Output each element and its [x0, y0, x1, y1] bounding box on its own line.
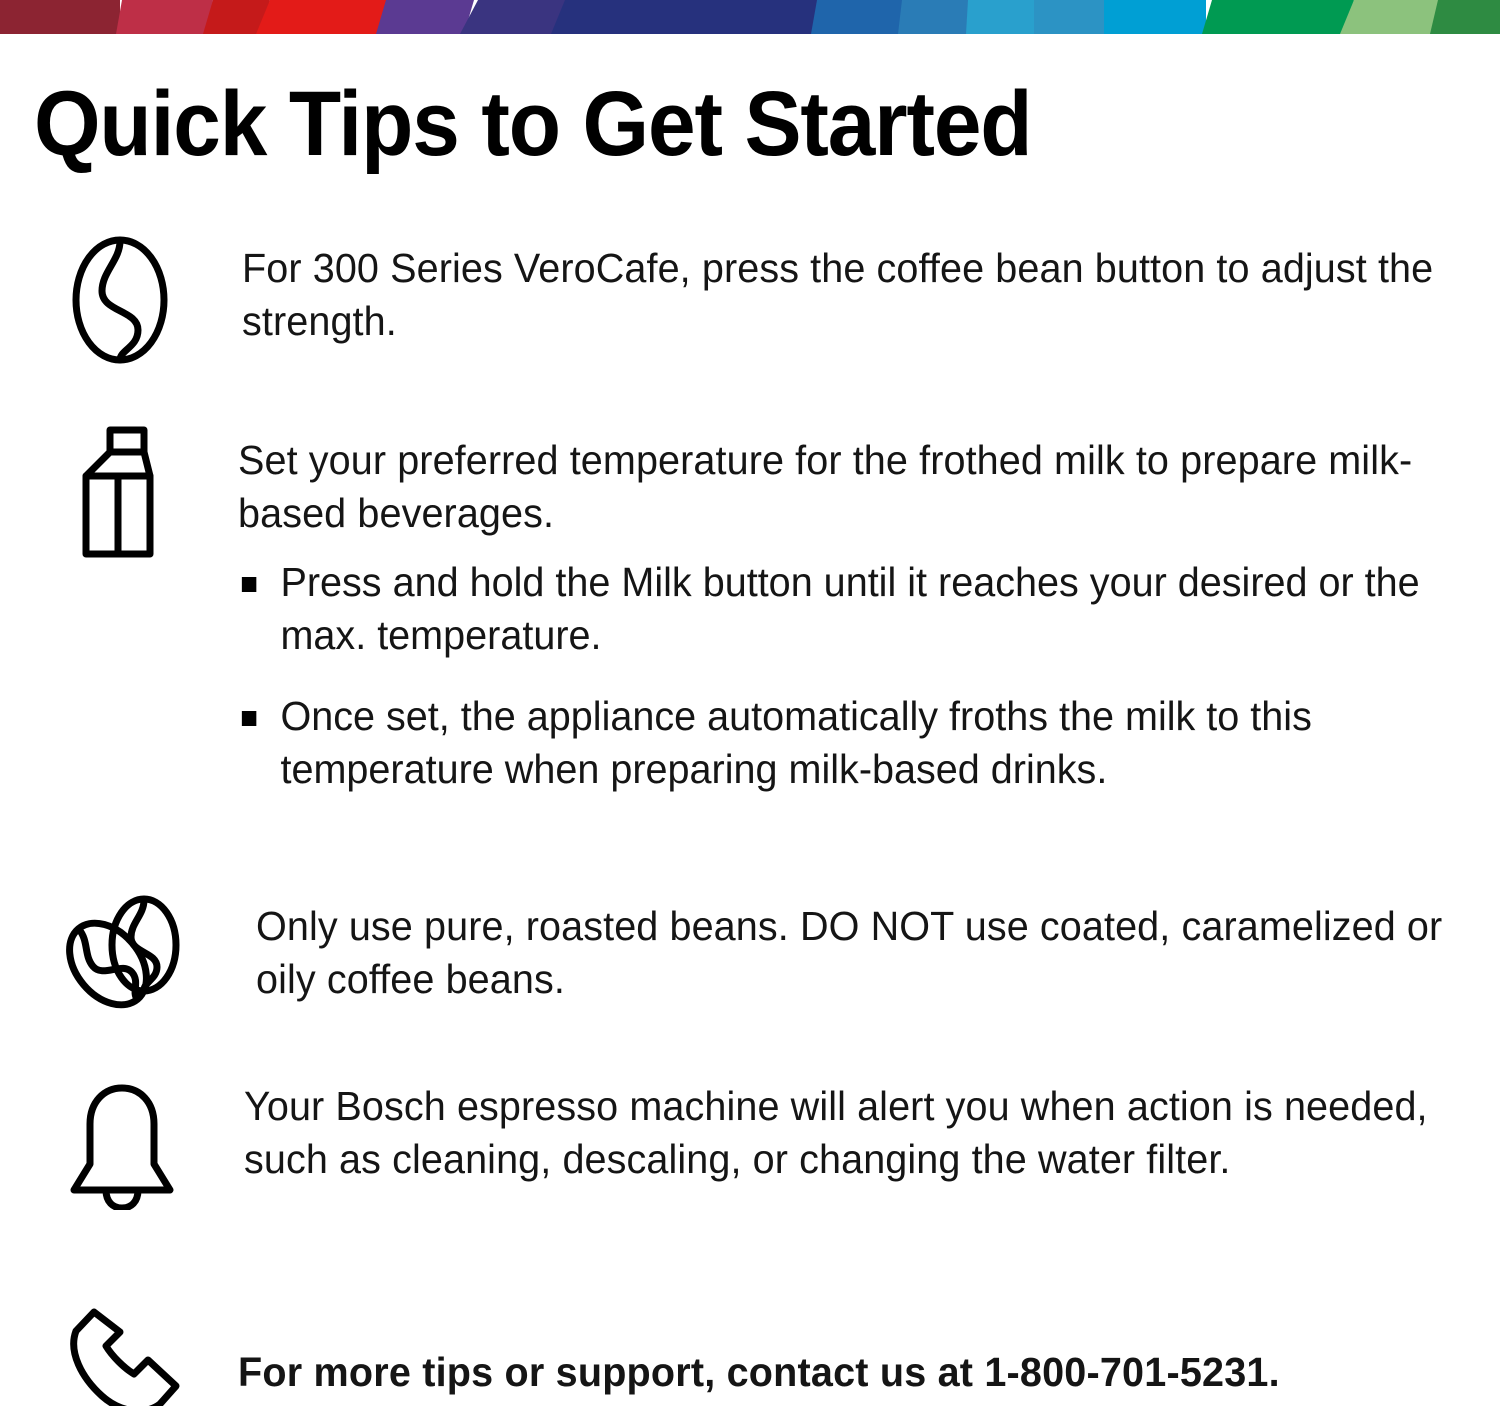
bell-icon: [62, 1078, 182, 1215]
colorbar-segment: [1202, 0, 1354, 34]
colorbar-segment: [256, 0, 394, 34]
bosch-supergraphic-bar: [0, 0, 1500, 34]
square-bullet-icon: [242, 577, 256, 592]
page-title: Quick Tips to Get Started: [34, 76, 1031, 172]
tip-row-support: For more tips or support, contact us at …: [68, 1306, 1498, 1406]
quick-tips-page: Quick Tips to Get Started For 300 Series…: [0, 0, 1500, 1406]
phone-handset-icon: [68, 1306, 180, 1406]
tip-row-coffee-bean: For 300 Series VeroCafe, press the coffe…: [68, 236, 1488, 369]
tip-row-pure-beans: Only use pure, roasted beans. DO NOT use…: [56, 892, 1486, 1017]
tip-text-milk-temperature: Set your preferred temperature for the f…: [238, 434, 1444, 540]
tip-row-milk-temperature: Set your preferred temperature for the f…: [68, 424, 1488, 796]
colorbar-segment: [1034, 0, 1108, 34]
tip-body-coffee-bean: For 300 Series VeroCafe, press the coffe…: [242, 236, 1488, 348]
milk-carton-icon: [68, 424, 180, 565]
colorbar-segment: [898, 0, 974, 34]
colorbar-segment: [1104, 0, 1206, 34]
colorbar-segment: [551, 0, 829, 34]
tip-body-support: For more tips or support, contact us at …: [238, 1306, 1498, 1399]
milk-sub-item-2: Once set, the appliance automatically fr…: [238, 690, 1444, 796]
colorbar-segment: [966, 0, 1040, 34]
coffee-beans-pair-icon: [56, 892, 196, 1017]
tip-text-coffee-bean: For 300 Series VeroCafe, press the coffe…: [242, 242, 1444, 348]
colorbar-segment: [0, 0, 120, 34]
tip-body-milk-temperature: Set your preferred temperature for the f…: [238, 424, 1488, 796]
coffee-bean-icon: [68, 236, 172, 369]
square-bullet-icon: [242, 711, 256, 726]
colorbar-segment: [1430, 0, 1500, 34]
milk-sub-list: Press and hold the Milk button until it …: [238, 556, 1488, 796]
milk-sub-item-1-label: Press and hold the Milk button until it …: [280, 559, 1419, 658]
tip-body-pure-beans: Only use pure, roasted beans. DO NOT use…: [256, 892, 1486, 1006]
tip-row-alerts: Your Bosch espresso machine will alert y…: [62, 1078, 1492, 1215]
colorbar-segment: [811, 0, 908, 34]
milk-sub-item-1: Press and hold the Milk button until it …: [238, 556, 1444, 662]
tip-text-support: For more tips or support, contact us at …: [238, 1346, 1454, 1399]
tip-text-alerts: Your Bosch espresso machine will alert y…: [244, 1080, 1448, 1186]
colorbar-segment: [116, 0, 213, 34]
milk-sub-item-2-label: Once set, the appliance automatically fr…: [280, 693, 1311, 792]
tip-body-alerts: Your Bosch espresso machine will alert y…: [244, 1078, 1492, 1186]
tip-text-pure-beans: Only use pure, roasted beans. DO NOT use…: [256, 900, 1443, 1006]
colorbar-segment: [376, 0, 474, 34]
